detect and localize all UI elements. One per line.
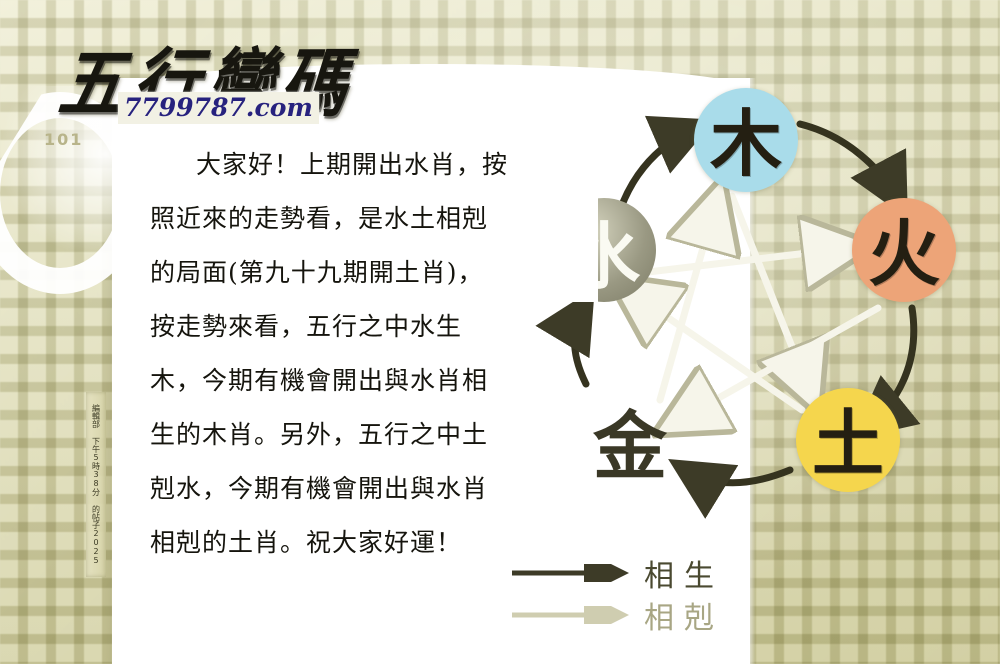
spine-attribution-text: 編輯部 下午5時38分 的帖子2025 [86,392,106,577]
article-line: 剋水，今期有機會開出與水肖 [150,464,520,514]
arrow-metal-to-wood [660,202,716,400]
arrow-water-to-fire [648,248,850,272]
article-line: 木，今期有機會開出與水肖相 [150,356,520,406]
water-node[interactable]: 水 [552,198,656,302]
article-line: 相剋的土肖。祝大家好運！ [150,518,520,568]
metal-node[interactable]: 金 [578,388,682,492]
article-line: 大家好！上期開出水肖，按 [150,140,520,190]
wood-label: 木 [710,85,782,190]
article-line: 生的木肖。另外，五行之中土 [150,410,520,460]
arrow-wood-to-fire [800,124,898,200]
earth-node[interactable]: 土 [796,388,900,492]
legend-row-ke: 相剋 [510,594,770,636]
metal-label: 金 [593,387,667,494]
earth-label: 土 [812,385,884,490]
article-line: 按走勢來看，五行之中水生 [150,302,520,352]
page-number: 101 [44,130,83,149]
article-body: 大家好！上期開出水肖，按 照近來的走勢看，是水土相剋 的局面(第九十九期開土肖)… [150,140,520,572]
legend-row-sheng: 相生 [510,552,770,594]
legend-solid-arrow-icon [510,564,630,582]
arrow-wood-to-earth [732,196,810,392]
site-watermark[interactable]: 7799787.com [118,92,319,124]
wood-node[interactable]: 木 [694,88,798,192]
five-elements-diagram: 木 火 土 金 水 [500,40,1000,600]
fire-node[interactable]: 火 [852,198,956,302]
arrow-metal-to-water [575,306,587,384]
legend-label-sheng: 相生 [644,551,724,595]
article-line: 的局面(第九十九期開土肖)， [150,248,520,298]
article-line: 照近來的走勢看，是水土相剋 [150,194,520,244]
diagram-legend: 相生 相剋 [510,552,770,636]
water-paper-occluder [552,198,598,302]
legend-label-ke: 相剋 [644,593,724,637]
fire-label: 火 [868,195,940,300]
legend-faded-arrow-icon [510,606,630,624]
page-root: 五行孿碼 7799787.com 101 編輯部 下午5時38分 的帖子2025… [0,0,1000,664]
arrow-earth-to-metal [686,470,790,483]
